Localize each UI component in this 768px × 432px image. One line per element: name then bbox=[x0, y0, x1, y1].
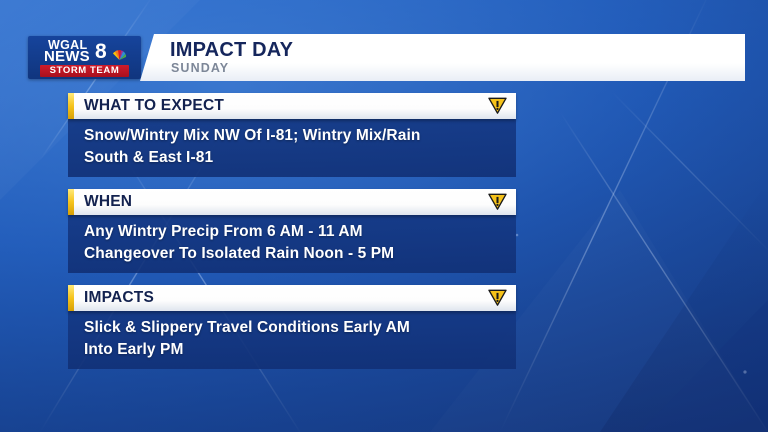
warning-triangle-icon bbox=[488, 97, 507, 114]
page-subtitle: SUNDAY bbox=[171, 61, 229, 75]
section-header: WHAT TO EXPECT bbox=[68, 93, 516, 119]
warning-triangle-icon bbox=[488, 289, 507, 306]
page-title: IMPACT DAY bbox=[170, 39, 293, 62]
section-body: Snow/Wintry Mix NW Of I-81; Wintry Mix/R… bbox=[68, 119, 516, 177]
section-body: Slick & Slippery Travel Conditions Early… bbox=[68, 311, 516, 369]
logo-storm-team-banner: STORM TEAM bbox=[40, 65, 129, 77]
section-what-to-expect: WHAT TO EXPECT Snow/Wintry Mix NW Of I-8… bbox=[68, 93, 516, 177]
section-header: IMPACTS bbox=[68, 285, 516, 311]
logo-wordmark: WGAL NEWS 8 bbox=[28, 37, 141, 64]
station-logo: WGAL NEWS 8 STORM TEAM bbox=[28, 36, 141, 79]
section-heading: IMPACTS bbox=[84, 289, 154, 307]
title-bar: IMPACT DAY SUNDAY bbox=[140, 34, 745, 81]
section-heading: WHAT TO EXPECT bbox=[84, 97, 224, 115]
body-line: Any Wintry Precip From 6 AM - 11 AM bbox=[84, 221, 516, 243]
body-line: South & East I-81 bbox=[84, 147, 516, 169]
logo-news-word: NEWS bbox=[44, 48, 90, 65]
body-line: Changeover To Isolated Rain Noon - 5 PM bbox=[84, 243, 516, 265]
header-accent-stripe bbox=[68, 285, 74, 311]
body-line: Snow/Wintry Mix NW Of I-81; Wintry Mix/R… bbox=[84, 125, 516, 147]
body-line: Slick & Slippery Travel Conditions Early… bbox=[84, 317, 516, 339]
section-heading: WHEN bbox=[84, 193, 132, 211]
nbc-peacock-icon bbox=[111, 47, 128, 61]
header-accent-stripe bbox=[68, 189, 74, 215]
section-header: WHEN bbox=[68, 189, 516, 215]
section-body: Any Wintry Precip From 6 AM - 11 AM Chan… bbox=[68, 215, 516, 273]
header-accent-stripe bbox=[68, 93, 74, 119]
section-when: WHEN Any Wintry Precip From 6 AM - 11 AM… bbox=[68, 189, 516, 273]
section-impacts: IMPACTS Slick & Slippery Travel Conditio… bbox=[68, 285, 516, 369]
warning-triangle-icon bbox=[488, 193, 507, 210]
logo-channel-number: 8 bbox=[95, 41, 107, 62]
body-line: Into Early PM bbox=[84, 339, 516, 361]
